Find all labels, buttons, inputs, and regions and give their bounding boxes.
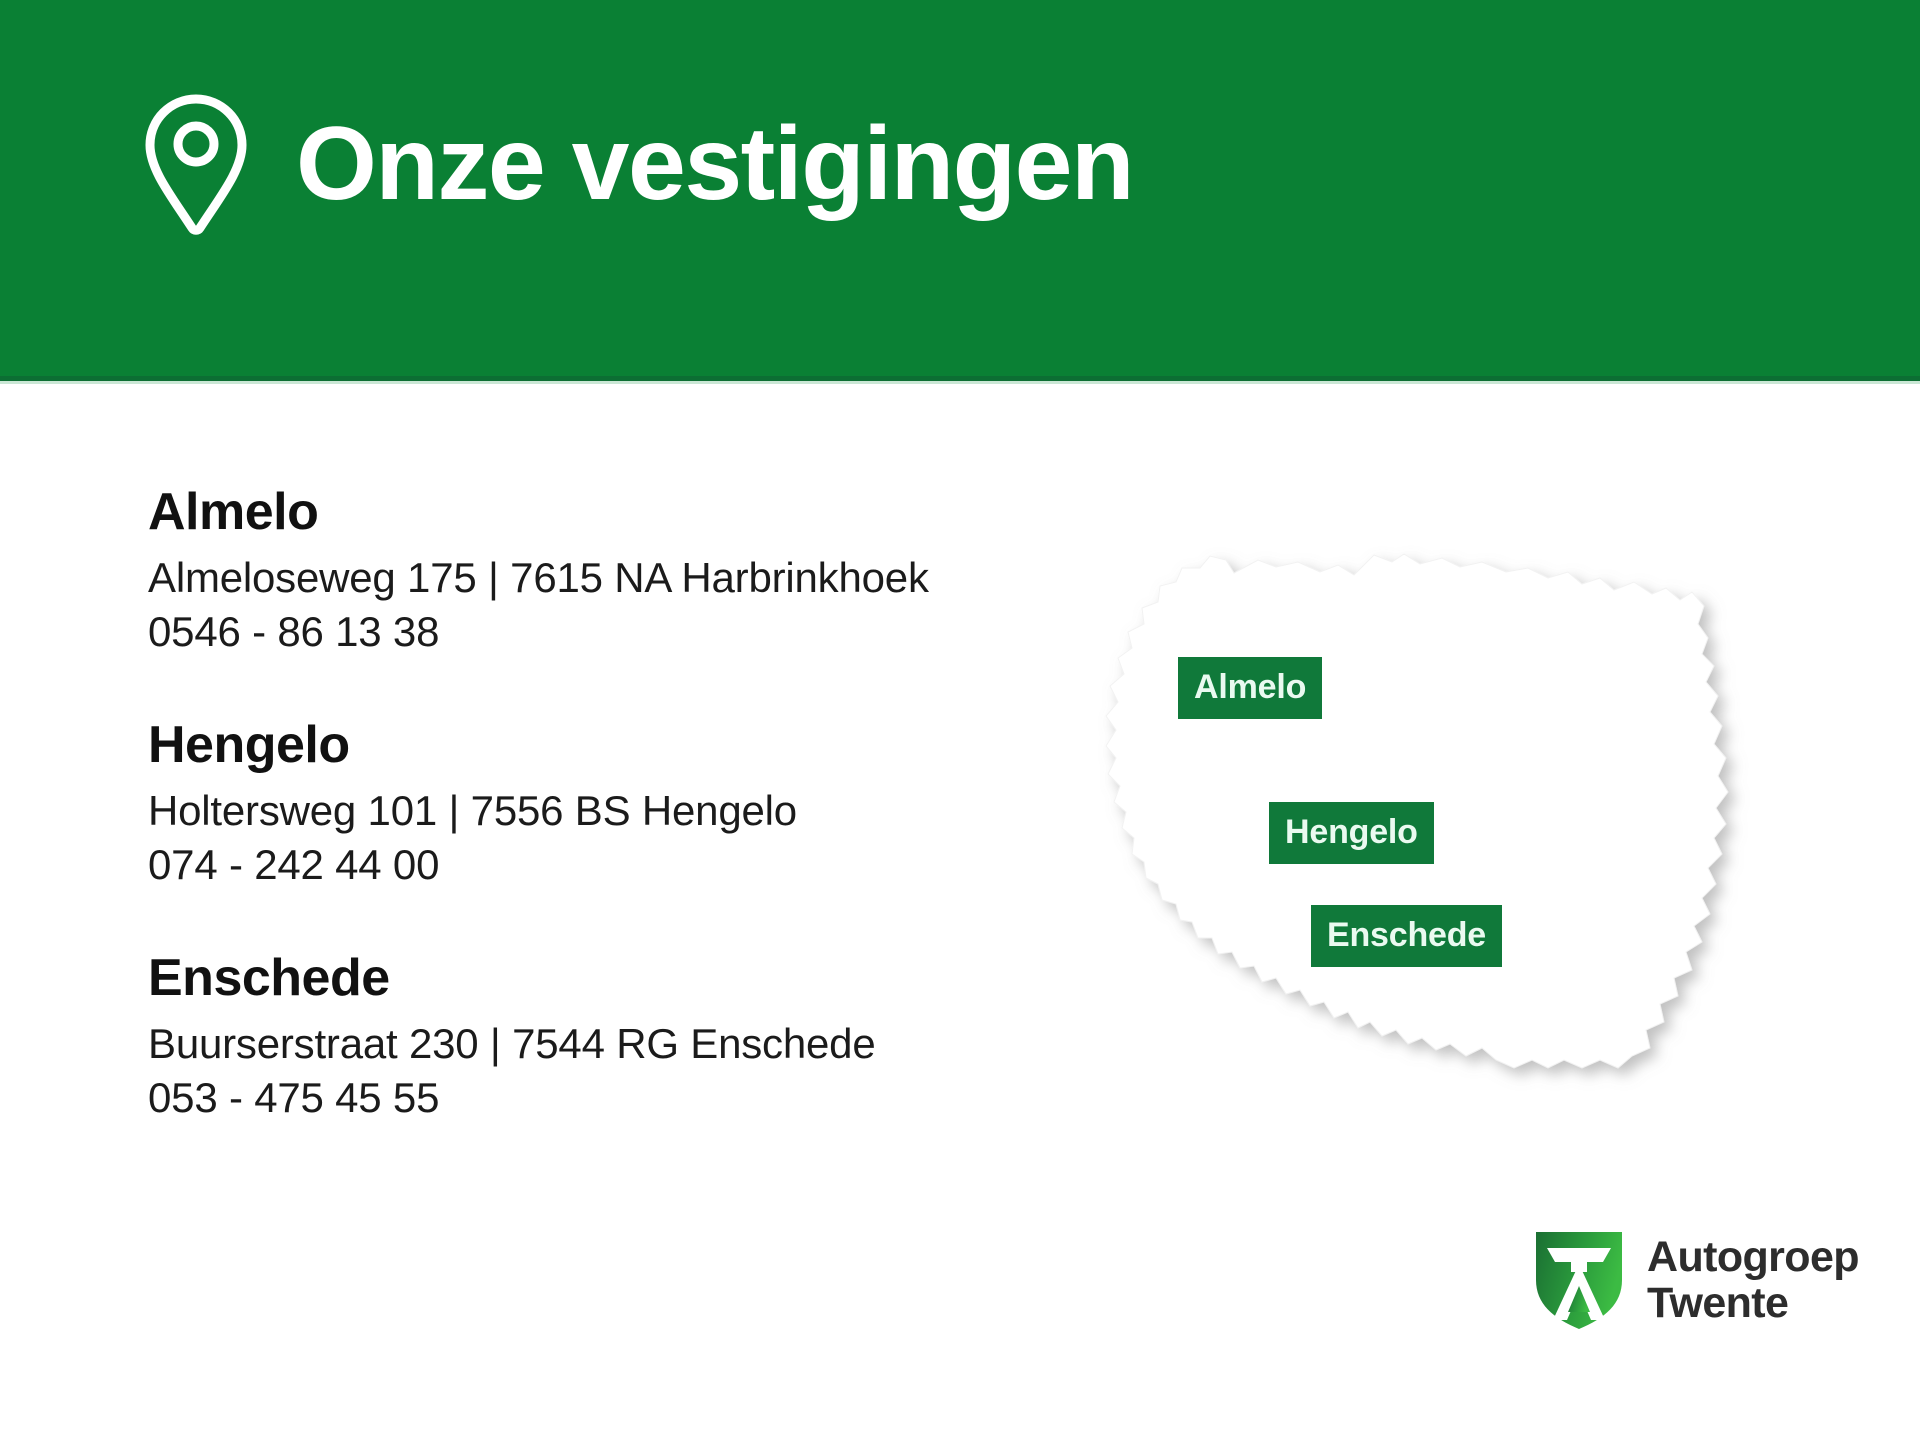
page-title: Onze vestigingen	[296, 110, 1133, 219]
location-phone[interactable]: 074 - 242 44 00	[148, 838, 1048, 892]
brand-logo-text: Autogroep Twente	[1647, 1234, 1859, 1327]
location-item-hengelo: Hengelo Holtersweg 101 | 7556 BS Hengelo…	[148, 715, 1048, 892]
location-phone[interactable]: 0546 - 86 13 38	[148, 605, 1048, 659]
location-name: Enschede	[148, 948, 1048, 1009]
brand-logo[interactable]: Autogroep Twente	[1533, 1228, 1859, 1332]
brand-name-line2: Twente	[1647, 1280, 1859, 1326]
header-divider-highlight	[0, 381, 1920, 384]
location-name: Hengelo	[148, 715, 1048, 776]
location-item-almelo: Almelo Almeloseweg 175 | 7615 NA Harbrin…	[148, 482, 1048, 659]
location-phone[interactable]: 053 - 475 45 55	[148, 1071, 1048, 1125]
twente-region-map: Almelo Hengelo Enschede	[1062, 520, 1762, 1140]
map-label-enschede[interactable]: Enschede	[1311, 905, 1502, 967]
header-content: Onze vestigingen	[140, 92, 1133, 238]
autogroep-twente-shield-icon	[1533, 1228, 1625, 1332]
map-pin-icon	[140, 92, 252, 238]
location-address: Almeloseweg 175 | 7615 NA Harbrinkhoek	[148, 551, 1048, 605]
location-item-enschede: Enschede Buurserstraat 230 | 7544 RG Ens…	[148, 948, 1048, 1125]
brand-name-line1: Autogroep	[1647, 1234, 1859, 1280]
location-address: Holtersweg 101 | 7556 BS Hengelo	[148, 784, 1048, 838]
location-name: Almelo	[148, 482, 1048, 543]
map-label-almelo[interactable]: Almelo	[1178, 657, 1322, 719]
locations-infographic: Onze vestigingen Almelo Almeloseweg 175 …	[0, 0, 1920, 1440]
header-banner: Onze vestigingen	[0, 0, 1920, 376]
location-address: Buurserstraat 230 | 7544 RG Enschede	[148, 1017, 1048, 1071]
locations-list: Almelo Almeloseweg 175 | 7615 NA Harbrin…	[148, 482, 1048, 1125]
map-label-hengelo[interactable]: Hengelo	[1269, 802, 1434, 864]
